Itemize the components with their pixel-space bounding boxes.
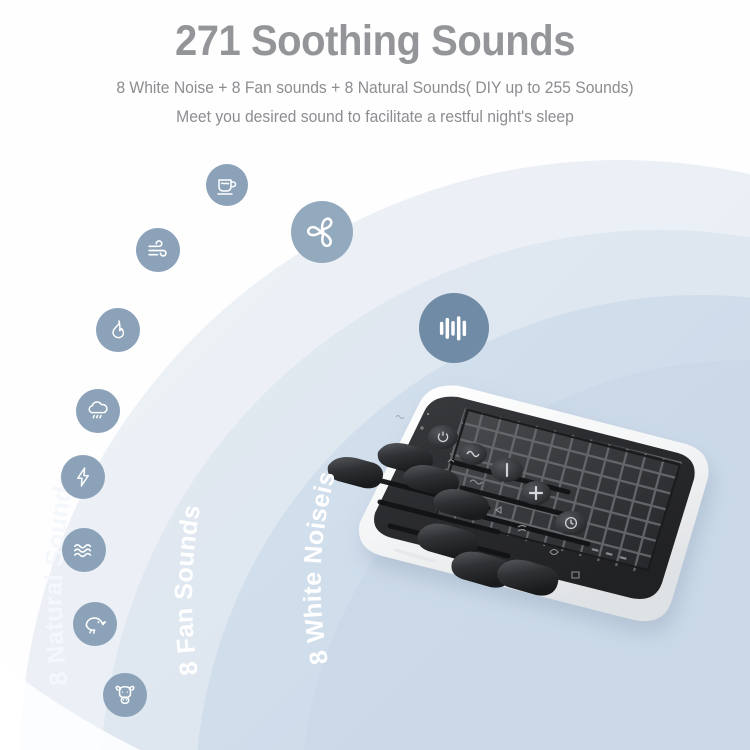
power-button[interactable] <box>428 425 458 449</box>
add-button[interactable] <box>521 481 551 505</box>
white-noise-machine <box>300 370 730 690</box>
cow-icon <box>103 673 147 717</box>
sound-wave-icon <box>419 293 489 363</box>
header-block: 271 Soothing Sounds 8 White Noise + 8 Fa… <box>0 0 750 127</box>
flame-icon <box>96 308 140 352</box>
subtitle-line-2: Meet you desired sound to facilitate a r… <box>19 108 732 126</box>
volume-button[interactable] <box>491 458 523 482</box>
slider-fader[interactable] <box>328 457 383 488</box>
page-title: 271 Soothing Sounds <box>26 18 724 65</box>
product-feature-graphic: 8 Natural Sounds 8 Fan Sounds 8 White No… <box>0 0 750 750</box>
coffee-cup-icon <box>206 164 248 206</box>
bird-icon <box>73 602 117 646</box>
subtitle-line-1: 8 White Noise + 8 Fan sounds + 8 Natural… <box>19 79 732 97</box>
mode-button[interactable] <box>459 443 487 465</box>
wind-icon <box>136 228 180 272</box>
equalizer-bars <box>432 306 476 350</box>
timer-button[interactable] <box>555 511 587 535</box>
fan-icon <box>291 201 353 263</box>
lightning-icon <box>61 455 105 499</box>
rain-cloud-icon <box>76 389 120 433</box>
water-waves-icon <box>62 528 106 572</box>
